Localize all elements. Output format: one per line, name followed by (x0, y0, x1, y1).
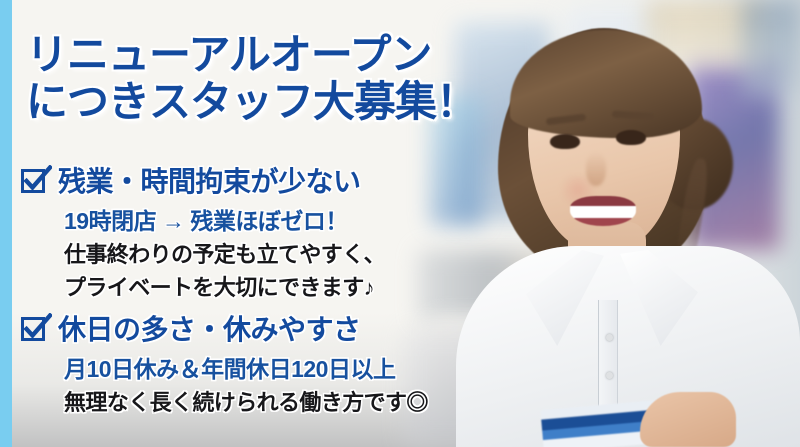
eye-right (616, 130, 646, 145)
benefit-2-heading: 休日の多さ・休みやすさ (20, 308, 500, 348)
benefit-1-highlight: 19時閉店 → 残業ほぼゼロ！ (64, 202, 500, 236)
eye-left (550, 134, 580, 149)
benefit-2-highlight: 月10日休み＆年間休日120日以上 (64, 350, 500, 384)
checkbox-checked-icon (20, 313, 52, 343)
banner-text-content: リニューアルオープン につきスタッフ大募集！ 残業・時間拘束が少ない 19時閉店… (0, 0, 520, 447)
recruitment-banner: リニューアルオープン につきスタッフ大募集！ 残業・時間拘束が少ない 19時閉店… (0, 0, 800, 447)
shirt-placket (598, 300, 618, 418)
shirt-button (606, 372, 613, 379)
bangs (510, 30, 702, 138)
smiling-mouth (570, 196, 636, 226)
headline-line-1: リニューアルオープン (26, 31, 506, 78)
benefit-1-detail-line-2: プライベートを大切にできます♪ (64, 270, 500, 302)
page-title: リニューアルオープン につきスタッフ大募集！ (26, 31, 506, 125)
checkbox-checked-icon (20, 165, 52, 195)
benefit-2-title: 休日の多さ・休みやすさ (58, 308, 361, 348)
benefit-2-detail-line-1: 無理なく長く続けられる働き方です◎ (64, 385, 500, 417)
benefit-1-title: 残業・時間拘束が少ない (58, 160, 361, 200)
hand (640, 392, 736, 447)
benefit-item-1: 残業・時間拘束が少ない 19時閉店 → 残業ほぼゼロ！ 仕事終わりの予定も立てや… (20, 160, 500, 302)
nose (586, 152, 606, 186)
benefit-1-heading: 残業・時間拘束が少ない (20, 160, 500, 200)
headline-line-2: につきスタッフ大募集！ (26, 78, 506, 125)
benefit-item-2: 休日の多さ・休みやすさ 月10日休み＆年間休日120日以上 無理なく長く続けられ… (20, 308, 500, 417)
shirt-button (606, 334, 613, 341)
benefit-1-detail-line-1: 仕事終わりの予定も立てやすく、 (64, 237, 500, 269)
